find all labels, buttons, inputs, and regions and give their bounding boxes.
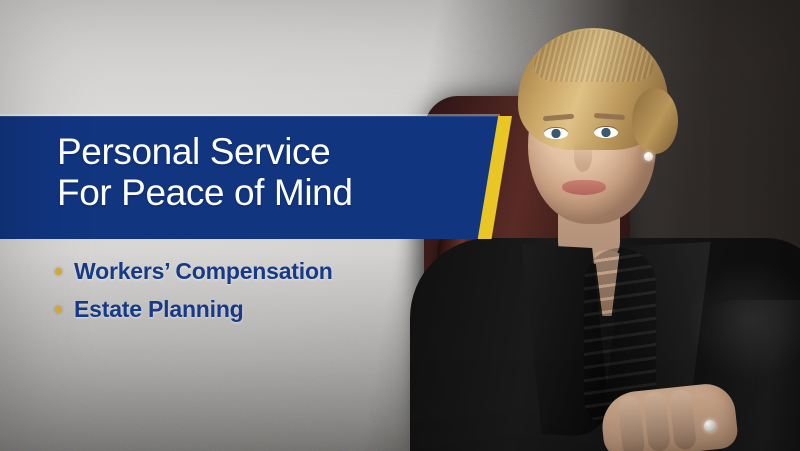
right-eye [594,127,618,138]
earring [644,152,653,161]
nose [574,140,592,172]
list-item-label: Estate Planning [74,296,244,323]
left-eye [544,128,568,139]
practice-area-list: Workers’ Compensation Estate Planning [55,258,475,334]
headline-line-1: Personal Service [57,131,487,172]
page-title: Personal Service For Peace of Mind [57,131,487,213]
bullet-dot-icon [55,268,62,275]
hair-bun [632,88,678,154]
banner-top-edge-highlight [0,114,500,116]
shoulder-highlight [686,260,800,380]
marketing-banner-hero: Personal Service For Peace of Mind Worke… [0,0,800,451]
list-item-label: Workers’ Compensation [74,258,333,285]
list-item[interactable]: Estate Planning [55,296,475,323]
headline-line-2: For Peace of Mind [57,172,487,213]
mouth [562,180,606,195]
hair-strands [534,30,654,82]
bullet-dot-icon [55,306,62,313]
list-item[interactable]: Workers’ Compensation [55,258,475,285]
